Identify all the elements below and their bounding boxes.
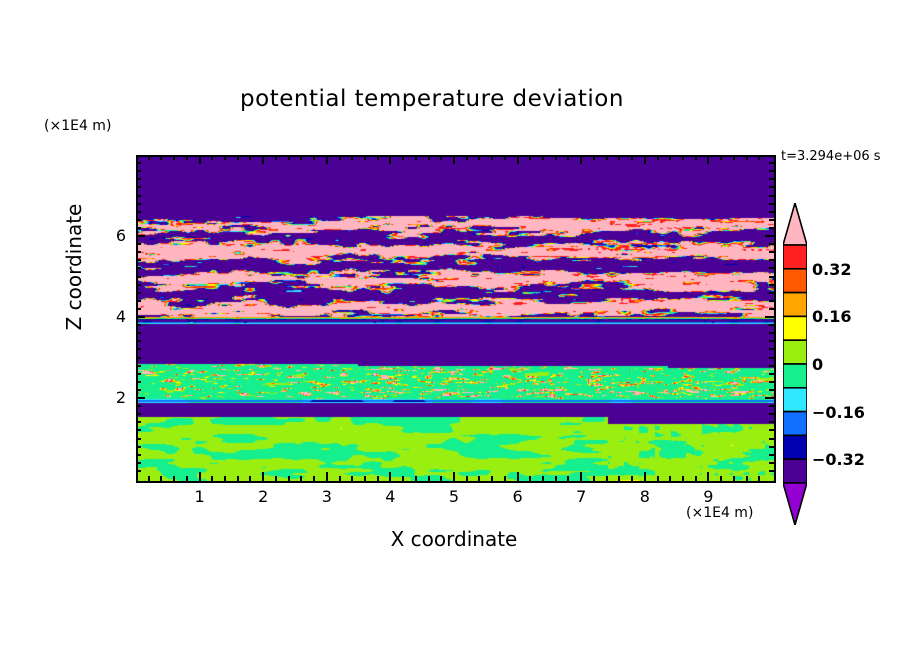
y-tick-minor — [136, 446, 141, 448]
x-tick-minor-top — [249, 155, 251, 160]
x-tick-major-top — [580, 155, 582, 164]
x-tick-major-top — [262, 155, 264, 164]
x-tick-label: 4 — [370, 487, 410, 506]
y-tick-minor — [136, 429, 141, 431]
colorbar-band — [783, 340, 807, 364]
y-tick-minor — [136, 340, 141, 342]
x-tick-minor-top — [466, 155, 468, 160]
y-tick-minor-right — [769, 438, 774, 440]
y-tick-minor-right — [769, 429, 774, 431]
x-tick-label: 7 — [561, 487, 601, 506]
x-tick-minor — [339, 476, 341, 481]
y-tick-minor — [136, 357, 141, 359]
y-tick-minor — [136, 284, 141, 286]
x-tick-minor — [377, 476, 379, 481]
x-tick-minor — [618, 476, 620, 481]
y-tick-minor — [136, 405, 141, 407]
colorbar-tick-label: −0.32 — [812, 450, 865, 469]
x-tick-minor — [669, 476, 671, 481]
x-tick-minor-top — [720, 155, 722, 160]
y-tick-minor-right — [769, 178, 774, 180]
x-tick-minor — [733, 476, 735, 481]
x-tick-minor — [402, 476, 404, 481]
y-tick-minor-right — [769, 251, 774, 253]
x-tick-minor-top — [746, 155, 748, 160]
x-tick-major — [453, 472, 455, 481]
x-tick-minor — [542, 476, 544, 481]
y-tick-minor — [136, 251, 141, 253]
x-tick-minor-top — [669, 155, 671, 160]
y-tick-minor-right — [769, 211, 774, 213]
y-tick-minor-right — [769, 405, 774, 407]
x-tick-minor — [567, 476, 569, 481]
y-tick-minor-right — [769, 243, 774, 245]
y-tick-minor — [136, 308, 141, 310]
colorbar-band — [783, 293, 807, 317]
x-tick-minor — [504, 476, 506, 481]
colorbar-tick-label: 0.32 — [812, 260, 851, 279]
x-tick-major — [517, 472, 519, 481]
x-tick-minor-top — [160, 155, 162, 160]
y-axis-unit-label: (×1E4 m) — [44, 118, 111, 134]
page-title: potential temperature deviation — [0, 86, 904, 112]
y-tick-minor — [136, 195, 141, 197]
y-tick-major-right — [765, 397, 774, 399]
x-tick-minor — [440, 476, 442, 481]
colorbar-band — [783, 245, 807, 269]
x-tick-major — [707, 472, 709, 481]
x-tick-major-top — [707, 155, 709, 164]
y-tick-minor-right — [769, 162, 774, 164]
x-tick-minor-top — [148, 155, 150, 160]
x-tick-minor — [631, 476, 633, 481]
x-tick-minor — [657, 476, 659, 481]
x-tick-minor — [695, 476, 697, 481]
x-tick-minor — [288, 476, 290, 481]
x-tick-minor-top — [300, 155, 302, 160]
colorbar-band — [783, 269, 807, 293]
x-tick-minor-top — [657, 155, 659, 160]
y-tick-minor-right — [769, 348, 774, 350]
y-tick-major-right — [765, 316, 774, 318]
y-tick-minor-right — [769, 332, 774, 334]
y-tick-minor-right — [769, 373, 774, 375]
y-tick-minor-right — [769, 446, 774, 448]
x-tick-minor-top — [211, 155, 213, 160]
x-tick-minor-top — [237, 155, 239, 160]
x-tick-minor — [415, 476, 417, 481]
x-axis-title: X coordinate — [136, 527, 772, 551]
x-tick-minor-top — [288, 155, 290, 160]
y-tick-minor — [136, 324, 141, 326]
y-tick-minor — [136, 413, 141, 415]
y-tick-minor — [136, 178, 141, 180]
colorbar-band — [783, 316, 807, 340]
x-tick-label: 3 — [307, 487, 347, 506]
colorbar-band — [783, 459, 807, 483]
x-tick-major-top — [326, 155, 328, 164]
y-tick-minor-right — [769, 195, 774, 197]
y-tick-minor-right — [769, 454, 774, 456]
y-tick-minor-right — [769, 276, 774, 278]
y-tick-minor-right — [769, 413, 774, 415]
x-tick-minor — [529, 476, 531, 481]
y-tick-minor — [136, 292, 141, 294]
x-tick-minor — [466, 476, 468, 481]
x-tick-minor — [313, 476, 315, 481]
y-tick-minor-right — [769, 227, 774, 229]
y-tick-label: 2 — [86, 388, 126, 407]
timestamp-annotation: t=3.294e+06 s — [781, 149, 881, 164]
x-tick-minor — [173, 476, 175, 481]
y-tick-minor-right — [769, 203, 774, 205]
x-tick-minor — [237, 476, 239, 481]
x-tick-major-top — [199, 155, 201, 164]
figure-root: potential temperature deviation (×1E4 m)… — [0, 0, 904, 654]
y-tick-minor — [136, 332, 141, 334]
y-tick-minor — [136, 438, 141, 440]
y-tick-label: 6 — [86, 226, 126, 245]
colorbar-band — [783, 412, 807, 436]
x-tick-major-top — [644, 155, 646, 164]
x-tick-minor-top — [351, 155, 353, 160]
x-tick-minor-top — [529, 155, 531, 160]
x-tick-minor — [491, 476, 493, 481]
x-tick-minor — [555, 476, 557, 481]
x-tick-minor-top — [339, 155, 341, 160]
x-tick-minor-top — [491, 155, 493, 160]
x-tick-label: 5 — [434, 487, 474, 506]
y-tick-major-right — [765, 235, 774, 237]
x-tick-minor-top — [758, 155, 760, 160]
x-tick-label: 6 — [498, 487, 538, 506]
y-tick-minor — [136, 300, 141, 302]
y-tick-minor-right — [769, 381, 774, 383]
x-tick-major — [199, 472, 201, 481]
y-axis-title: Z coordinate — [62, 167, 86, 367]
x-tick-minor — [593, 476, 595, 481]
x-tick-minor — [186, 476, 188, 481]
y-tick-major — [136, 235, 145, 237]
y-tick-minor — [136, 381, 141, 383]
y-tick-minor-right — [769, 462, 774, 464]
y-tick-minor — [136, 259, 141, 261]
x-tick-minor-top — [618, 155, 620, 160]
y-tick-minor-right — [769, 389, 774, 391]
y-tick-minor-right — [769, 357, 774, 359]
y-tick-minor — [136, 348, 141, 350]
x-tick-minor-top — [428, 155, 430, 160]
y-tick-minor-right — [769, 308, 774, 310]
x-tick-minor-top — [173, 155, 175, 160]
y-tick-minor-right — [769, 365, 774, 367]
x-tick-minor — [606, 476, 608, 481]
x-tick-minor — [249, 476, 251, 481]
y-tick-minor — [136, 462, 141, 464]
y-tick-minor — [136, 373, 141, 375]
y-tick-minor — [136, 219, 141, 221]
colorbar-extend-high — [783, 203, 807, 245]
x-tick-major-top — [517, 155, 519, 164]
x-tick-label: 8 — [625, 487, 665, 506]
x-tick-minor — [224, 476, 226, 481]
x-tick-minor-top — [733, 155, 735, 160]
y-tick-minor — [136, 162, 141, 164]
y-tick-minor-right — [769, 284, 774, 286]
y-tick-minor-right — [769, 470, 774, 472]
y-tick-minor — [136, 470, 141, 472]
x-tick-minor-top — [478, 155, 480, 160]
y-tick-minor — [136, 170, 141, 172]
x-tick-minor — [746, 476, 748, 481]
y-tick-minor-right — [769, 324, 774, 326]
x-tick-minor-top — [555, 155, 557, 160]
y-tick-major — [136, 316, 145, 318]
colorbar-tick-label: 0 — [812, 355, 823, 374]
colorbar-band — [783, 388, 807, 412]
y-tick-minor — [136, 211, 141, 213]
y-tick-minor — [136, 276, 141, 278]
y-tick-minor — [136, 203, 141, 205]
x-tick-minor — [364, 476, 366, 481]
y-tick-label: 4 — [86, 307, 126, 326]
x-tick-major — [326, 472, 328, 481]
x-tick-minor-top — [593, 155, 595, 160]
x-tick-minor — [160, 476, 162, 481]
y-tick-minor-right — [769, 170, 774, 172]
x-tick-minor — [211, 476, 213, 481]
colorbar-extend-low — [783, 483, 807, 525]
y-tick-minor-right — [769, 219, 774, 221]
x-tick-minor — [720, 476, 722, 481]
x-tick-minor-top — [415, 155, 417, 160]
colorbar-tick-label: 0.16 — [812, 307, 851, 326]
x-tick-minor — [758, 476, 760, 481]
x-tick-minor — [300, 476, 302, 481]
x-tick-minor — [478, 476, 480, 481]
x-tick-minor-top — [402, 155, 404, 160]
x-tick-minor — [275, 476, 277, 481]
y-tick-minor-right — [769, 300, 774, 302]
x-tick-minor-top — [186, 155, 188, 160]
x-tick-major — [644, 472, 646, 481]
y-tick-minor-right — [769, 340, 774, 342]
x-tick-minor — [682, 476, 684, 481]
plot-title-text: potential temperature deviation — [240, 86, 624, 112]
x-axis-unit-label: (×1E4 m) — [686, 505, 753, 521]
colorbar-band — [783, 435, 807, 459]
y-tick-minor-right — [769, 267, 774, 269]
y-tick-minor — [136, 186, 141, 188]
x-tick-minor-top — [504, 155, 506, 160]
x-tick-minor-top — [364, 155, 366, 160]
plot-area[interactable] — [136, 155, 776, 483]
x-tick-major — [262, 472, 264, 481]
x-tick-minor-top — [275, 155, 277, 160]
x-tick-minor-top — [606, 155, 608, 160]
colorbar-band — [783, 364, 807, 388]
x-tick-minor-top — [542, 155, 544, 160]
x-tick-minor-top — [682, 155, 684, 160]
y-tick-minor-right — [769, 186, 774, 188]
x-tick-minor — [148, 476, 150, 481]
x-tick-minor — [428, 476, 430, 481]
x-tick-major — [389, 472, 391, 481]
y-tick-minor — [136, 454, 141, 456]
y-tick-major — [136, 397, 145, 399]
x-tick-major-top — [389, 155, 391, 164]
x-tick-minor-top — [695, 155, 697, 160]
x-tick-minor — [351, 476, 353, 481]
x-tick-minor-top — [440, 155, 442, 160]
x-tick-minor-top — [313, 155, 315, 160]
colorbar-tick-label: −0.16 — [812, 403, 865, 422]
y-tick-minor-right — [769, 421, 774, 423]
x-tick-major — [580, 472, 582, 481]
x-tick-minor-top — [377, 155, 379, 160]
y-tick-minor — [136, 365, 141, 367]
x-tick-label: 1 — [180, 487, 220, 506]
y-tick-minor — [136, 227, 141, 229]
y-tick-minor-right — [769, 292, 774, 294]
x-tick-minor-top — [224, 155, 226, 160]
y-tick-minor — [136, 421, 141, 423]
x-tick-label: 2 — [243, 487, 283, 506]
heatmap-canvas — [138, 157, 774, 481]
y-tick-minor-right — [769, 259, 774, 261]
x-tick-minor-top — [567, 155, 569, 160]
y-tick-minor — [136, 243, 141, 245]
x-tick-minor-top — [631, 155, 633, 160]
y-tick-minor — [136, 267, 141, 269]
x-tick-major-top — [453, 155, 455, 164]
colorbar[interactable] — [783, 203, 807, 525]
x-tick-label: 9 — [688, 487, 728, 506]
y-tick-minor — [136, 389, 141, 391]
